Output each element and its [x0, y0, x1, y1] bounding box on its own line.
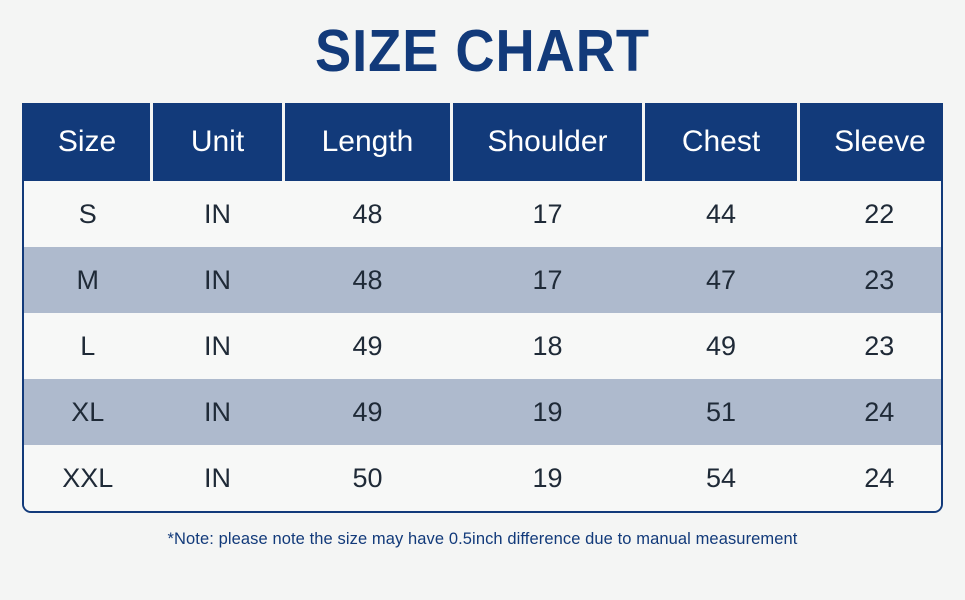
page-title: SIZE CHART — [39, 0, 927, 81]
cell-chest: 51 — [644, 379, 799, 445]
cell-chest: 54 — [644, 445, 799, 511]
cell-size: M — [24, 247, 152, 313]
cell-length: 48 — [284, 181, 452, 247]
cell-length: 50 — [284, 445, 452, 511]
table-header: Size Unit Length Shoulder Chest Sleeve — [24, 103, 943, 181]
cell-unit: IN — [152, 379, 284, 445]
size-table: Size Unit Length Shoulder Chest Sleeve S… — [24, 103, 943, 511]
cell-sleeve: 24 — [799, 445, 944, 511]
measurement-note: *Note: please note the size may have 0.5… — [14, 529, 950, 549]
cell-sleeve: 24 — [799, 379, 944, 445]
column-header-shoulder: Shoulder — [452, 103, 644, 181]
size-chart-page: SIZE CHART Size Unit Length Shoulder Che… — [0, 0, 965, 600]
column-header-chest: Chest — [644, 103, 799, 181]
table-header-row: Size Unit Length Shoulder Chest Sleeve — [24, 103, 943, 181]
cell-size: XL — [24, 379, 152, 445]
cell-shoulder: 17 — [452, 181, 644, 247]
cell-size: S — [24, 181, 152, 247]
cell-sleeve: 23 — [799, 247, 944, 313]
cell-shoulder: 18 — [452, 313, 644, 379]
column-header-size: Size — [24, 103, 152, 181]
cell-shoulder: 19 — [452, 445, 644, 511]
table-row: XXL IN 50 19 54 24 — [24, 445, 943, 511]
cell-chest: 44 — [644, 181, 799, 247]
column-header-sleeve: Sleeve — [799, 103, 944, 181]
size-table-container: Size Unit Length Shoulder Chest Sleeve S… — [22, 103, 943, 513]
table-row: M IN 48 17 47 23 — [24, 247, 943, 313]
column-header-unit: Unit — [152, 103, 284, 181]
cell-sleeve: 23 — [799, 313, 944, 379]
cell-size: L — [24, 313, 152, 379]
table-row: XL IN 49 19 51 24 — [24, 379, 943, 445]
cell-unit: IN — [152, 247, 284, 313]
cell-length: 49 — [284, 379, 452, 445]
cell-unit: IN — [152, 445, 284, 511]
cell-shoulder: 19 — [452, 379, 644, 445]
cell-length: 49 — [284, 313, 452, 379]
cell-size: XXL — [24, 445, 152, 511]
cell-sleeve: 22 — [799, 181, 944, 247]
cell-length: 48 — [284, 247, 452, 313]
table-body: S IN 48 17 44 22 M IN 48 17 47 23 L — [24, 181, 943, 511]
cell-chest: 47 — [644, 247, 799, 313]
cell-unit: IN — [152, 181, 284, 247]
cell-chest: 49 — [644, 313, 799, 379]
cell-unit: IN — [152, 313, 284, 379]
table-row: S IN 48 17 44 22 — [24, 181, 943, 247]
column-header-length: Length — [284, 103, 452, 181]
table-row: L IN 49 18 49 23 — [24, 313, 943, 379]
cell-shoulder: 17 — [452, 247, 644, 313]
